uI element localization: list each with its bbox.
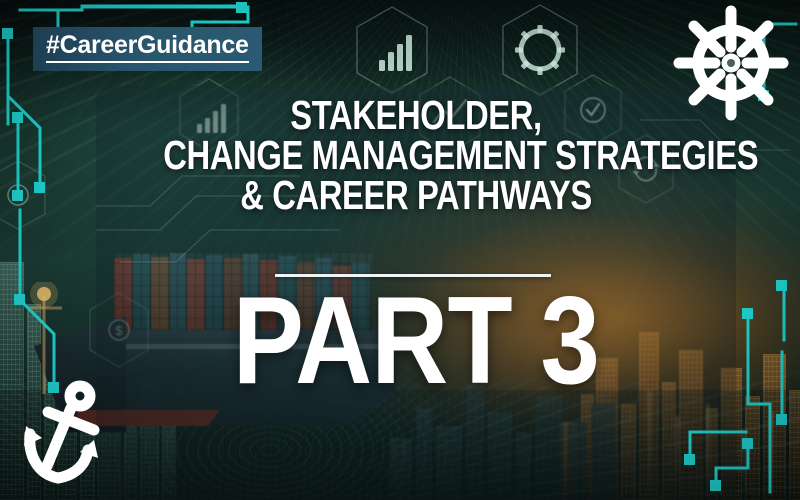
ships-wheel-icon: [672, 4, 790, 127]
headline-line-1: STAKEHOLDER,: [163, 96, 669, 136]
hashtag-badge[interactable]: #CareerGuidance: [33, 27, 262, 71]
anchor-icon: [24, 378, 120, 495]
headline-line-3: & CAREER PATHWAYS: [163, 176, 669, 216]
hashtag-badge-label: #CareerGuidance: [46, 33, 249, 63]
headline-block: STAKEHOLDER, CHANGE MANAGEMENT STRATEGIE…: [100, 96, 732, 215]
part-label-block: PART 3: [100, 288, 732, 395]
headline-line-2: CHANGE MANAGEMENT STRATEGIES: [163, 136, 669, 176]
part-label: PART 3: [233, 288, 599, 395]
career-guidance-banner: $ $: [0, 0, 800, 500]
